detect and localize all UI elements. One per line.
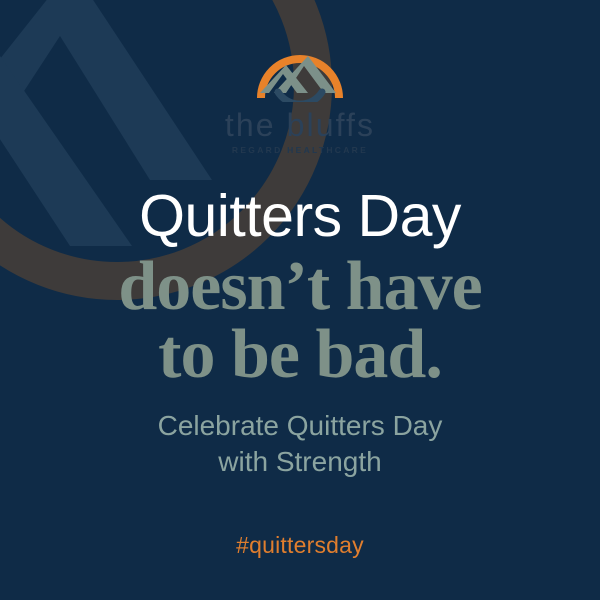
hashtag-quittersday: #quittersday xyxy=(0,532,600,559)
dark-swoosh-icon xyxy=(278,92,322,102)
logo-mark xyxy=(252,36,348,102)
brand-logo: the bluffs REGARD HEALTHCARE xyxy=(0,36,600,155)
headline-line-quitters-day: Quitters Day xyxy=(0,186,600,247)
subtitle-line-2: with Strength xyxy=(0,444,600,480)
logo-wordmark: the bluffs xyxy=(225,109,375,141)
social-graphic-canvas: the bluffs REGARD HEALTHCARE Quitters Da… xyxy=(0,0,600,600)
logo-tagline: REGARD HEALTHCARE xyxy=(232,146,368,155)
headline-line-to-be-bad: to be bad. xyxy=(0,322,600,389)
subtitle-group: Celebrate Quitters Day with Strength xyxy=(0,408,600,480)
headline-line-doesnt-have: doesn’t have xyxy=(0,254,600,321)
headline-group: Quitters Day doesn’t have to be bad. xyxy=(0,186,600,389)
subtitle-line-1: Celebrate Quitters Day xyxy=(0,408,600,444)
mountain-in-circle-icon xyxy=(252,36,348,102)
hashtag-group: #quittersday xyxy=(0,532,600,559)
